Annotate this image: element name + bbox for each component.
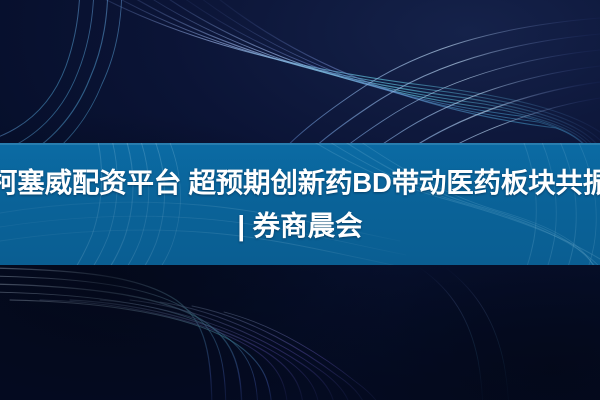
banner-title-line-1: 柯塞威配资平台 超预期创新药BD带动医药板块共振 [0, 161, 600, 204]
banner-image: 柯塞威配资平台 超预期创新药BD带动医药板块共振 | 券商晨会 [0, 0, 600, 400]
banner-title: 柯塞威配资平台 超预期创新药BD带动医药板块共振 | 券商晨会 [0, 143, 600, 265]
banner-title-line-2: | 券商晨会 [237, 204, 362, 247]
